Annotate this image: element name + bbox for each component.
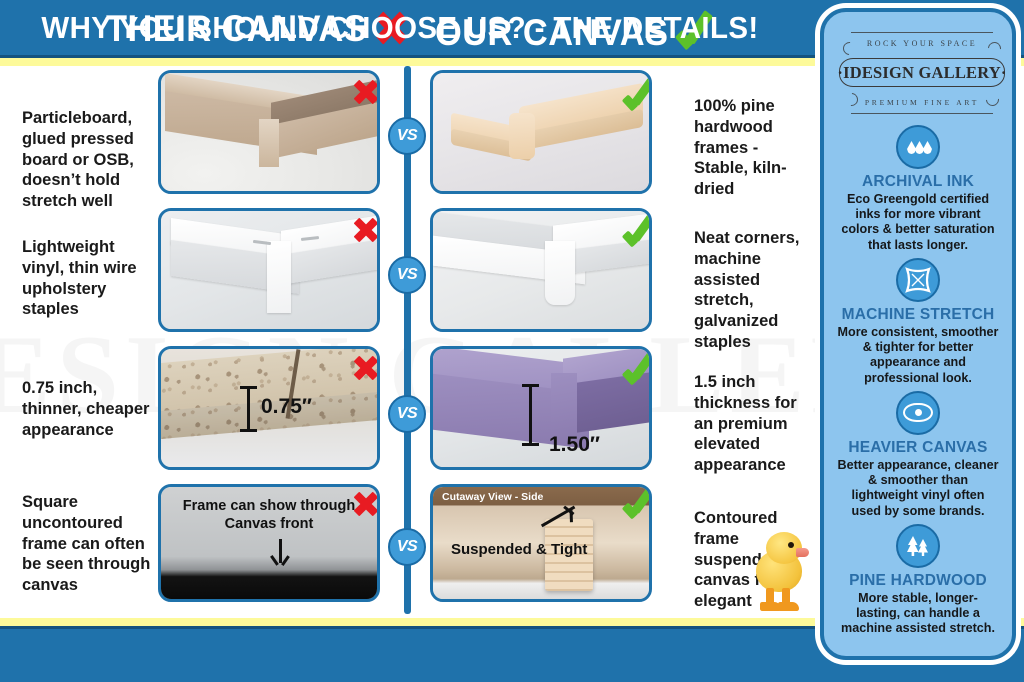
row-2-their-x-icon — [353, 217, 379, 243]
row-4-our-photo-label: Suspended & Tight — [451, 541, 587, 558]
row-3-their-dim-bar — [247, 387, 250, 431]
duckling-image — [752, 530, 814, 612]
feature-pine-hardwood: PINE HARDWOOD More stable, longer-lastin… — [833, 524, 1003, 637]
row-2-our-text: Neat corners, machine assisted stretch, … — [694, 228, 802, 353]
row-4-our-photo: Cutaway View - Side Suspended & Tight — [430, 484, 652, 602]
duck-eye-icon — [788, 542, 794, 548]
row-1-our-text: 100% pine hardwood frames - Stable, kiln… — [694, 96, 802, 200]
row-2-our-photo — [430, 208, 652, 332]
row-2-our-check-icon — [623, 213, 652, 245]
row-1-their-text: Particleboard, glued pressed board or OS… — [22, 108, 154, 212]
feature-heavier-canvas: HEAVIER CANVAS Better appearance, cleane… — [833, 391, 1003, 519]
feature-archival-ink: ARCHIVAL INK Eco Greengold certified ink… — [833, 125, 1003, 253]
row-2-their-photo — [158, 208, 380, 332]
row-3-our-dim-bar — [529, 385, 532, 445]
row-3-our-check-icon — [623, 351, 652, 383]
ink-drops-icon — [896, 125, 940, 169]
vs-badge-2: VS — [388, 256, 426, 294]
eye-icon — [896, 391, 940, 435]
logo-tagline-bottom: PREMIUM FINE ART — [833, 98, 1011, 107]
feature-1-body: Eco Greengold certified inks for more vi… — [833, 192, 1003, 253]
row-3-our-measure-label: 1.50″ — [549, 433, 600, 457]
row-4-their-text: Square uncontoured frame can often be se… — [22, 492, 154, 596]
pine-trees-icon — [896, 524, 940, 568]
row-4-their-photo: Frame can show through Canvas front — [158, 484, 380, 602]
row-1-our-photo — [430, 70, 652, 194]
vs-badge-4: VS — [388, 528, 426, 566]
feature-1-title: ARCHIVAL INK — [833, 173, 1003, 191]
row-4-their-x-icon — [353, 491, 379, 517]
row-4-our-photo-caption: Cutaway View - Side — [442, 491, 543, 503]
infographic-canvas: ·IDESIGN GALLERY· THEIR CANVAS OUR CANVA… — [0, 0, 1024, 682]
row-4-our-check-icon — [623, 485, 652, 517]
vs-badge-3: VS — [388, 395, 426, 433]
brand-logo: ROCK YOUR SPACE ·IDESIGN GALLERY· PREMIU… — [833, 24, 1011, 120]
row-4-their-photo-label: Frame can show through Canvas front — [161, 497, 377, 533]
row-3-their-photo: 0.75″ — [158, 346, 380, 470]
logo-flourish-bottom — [851, 113, 993, 114]
row-1-their-photo — [158, 70, 380, 194]
feature-2-body: More consistent, smoother & tighter for … — [833, 325, 1003, 386]
logo-name: ·IDESIGN GALLERY· — [839, 58, 1005, 87]
feature-machine-stretch: MACHINE STRETCH More consistent, smoothe… — [833, 258, 1003, 386]
vs-badge-1: VS — [388, 117, 426, 155]
logo-flourish-top — [851, 32, 993, 33]
logo-tagline-top: ROCK YOUR SPACE — [833, 39, 1011, 48]
feature-3-body: Better appearance, cleaner & smoother th… — [833, 458, 1003, 519]
feature-2-title: MACHINE STRETCH — [833, 306, 1003, 324]
duck-beak-icon — [796, 548, 809, 557]
features-sidebar: ROCK YOUR SPACE ·IDESIGN GALLERY· PREMIU… — [820, 8, 1016, 660]
row-3-their-text: 0.75 inch, thinner, cheaper appearance — [22, 378, 154, 440]
row-2-their-text: Lightweight vinyl, thin wire upholstery … — [22, 237, 154, 320]
row-3-their-measure-label: 0.75″ — [261, 395, 312, 419]
feature-3-title: HEAVIER CANVAS — [833, 439, 1003, 457]
row-1-their-x-icon — [353, 79, 379, 105]
row-3-our-photo: 1.50″ — [430, 346, 652, 470]
feature-4-body: More stable, longer-lasting, can handle … — [833, 591, 1003, 637]
row-1-our-check-icon — [623, 77, 652, 109]
row-3-their-x-icon — [353, 355, 379, 381]
row-3-our-text: 1.5 inch thickness for an premium elevat… — [694, 372, 802, 476]
feature-4-title: PINE HARDWOOD — [833, 572, 1003, 590]
footer-title: WHY YOU SHOULD CHOOSE US? - THE DETAILS! — [20, 10, 780, 46]
canvas-stretch-icon — [896, 258, 940, 302]
